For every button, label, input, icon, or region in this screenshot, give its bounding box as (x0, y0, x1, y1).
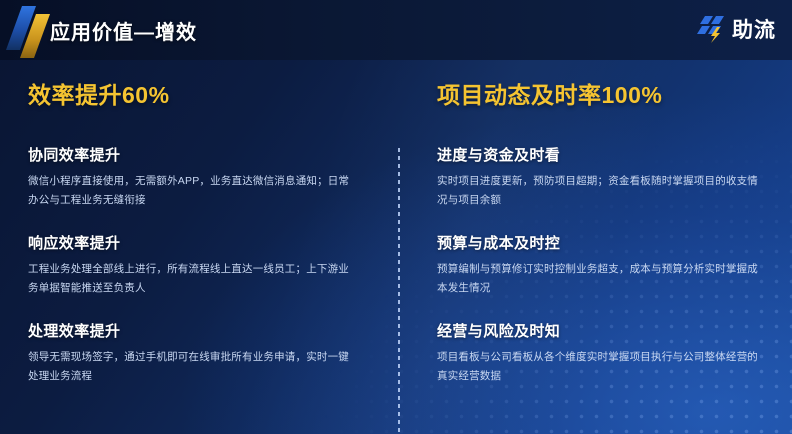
value-block: 经营与风险及时知 项目看板与公司看板从各个维度实时掌握项目执行与公司整体经营的真… (437, 320, 787, 387)
block-body: 预算编制与预算修订实时控制业务超支，成本与预算分析实时掌握成本发生情况 (437, 260, 767, 299)
block-title: 进度与资金及时看 (437, 144, 787, 165)
block-title: 预算与成本及时控 (437, 232, 787, 253)
value-block: 处理效率提升 领导无需现场签字，通过手机即可在线审批所有业务申请，实时一键处理业… (28, 320, 378, 387)
block-title: 响应效率提升 (28, 232, 378, 253)
slide-header-bar: 应用价值—增效 助流 (0, 0, 792, 60)
block-title: 协同效率提升 (28, 144, 378, 165)
block-title: 处理效率提升 (28, 320, 378, 341)
page-title: 应用价值—增效 (50, 16, 197, 45)
block-title: 经营与风险及时知 (437, 320, 787, 341)
left-column: 效率提升60% 协同效率提升 微信小程序直接使用，无需额外APP，业务直达微信消… (28, 76, 378, 408)
brand-logo-text: 助流 (732, 14, 776, 44)
block-body: 实时项目进度更新，预防项目超期；资金看板随时掌握项目的收支情况与项目余额 (437, 172, 767, 211)
right-column-heading: 项目动态及时率100% (437, 76, 787, 110)
column-divider (398, 148, 400, 434)
block-body: 项目看板与公司看板从各个维度实时掌握项目执行与公司整体经营的真实经营数据 (437, 348, 767, 387)
zhuliu-lightning-logo-icon (696, 15, 726, 43)
brand-slash-mark-icon (8, 6, 54, 56)
value-block: 协同效率提升 微信小程序直接使用，无需额外APP，业务直达微信消息通知；日常办公… (28, 144, 378, 211)
value-block: 响应效率提升 工程业务处理全部线上进行，所有流程线上直达一线员工；上下游业务单据… (28, 232, 378, 299)
block-body: 领导无需现场签字，通过手机即可在线审批所有业务申请，实时一键处理业务流程 (28, 348, 358, 387)
right-column: 项目动态及时率100% 进度与资金及时看 实时项目进度更新，预防项目超期；资金看… (437, 76, 787, 408)
value-block: 预算与成本及时控 预算编制与预算修订实时控制业务超支，成本与预算分析实时掌握成本… (437, 232, 787, 299)
block-body: 工程业务处理全部线上进行，所有流程线上直达一线员工；上下游业务单据智能推送至负责… (28, 260, 358, 299)
brand-logo: 助流 (696, 14, 776, 44)
left-column-heading: 效率提升60% (28, 76, 378, 110)
value-block: 进度与资金及时看 实时项目进度更新，预防项目超期；资金看板随时掌握项目的收支情况… (437, 144, 787, 211)
slide-canvas: 应用价值—增效 助流 效率提升60% 协同效率提升 微信小程序直接 (0, 0, 792, 434)
block-body: 微信小程序直接使用，无需额外APP，业务直达微信消息通知；日常办公与工程业务无缝… (28, 172, 358, 211)
